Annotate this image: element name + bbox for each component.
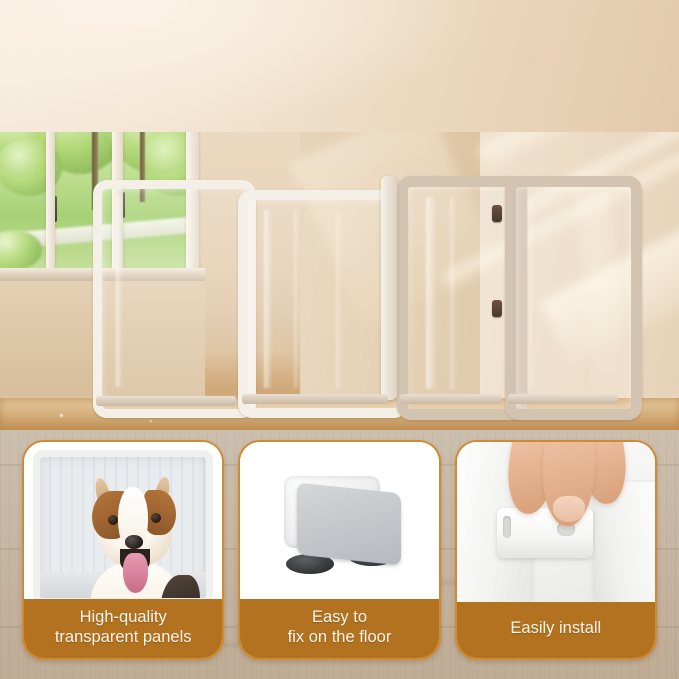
dog-eye-left xyxy=(108,515,118,525)
feature-card-easily-install[interactable]: Easily install xyxy=(455,440,657,660)
card-media-install xyxy=(457,442,655,602)
gate-panel-left xyxy=(93,180,256,418)
feature-card-transparent-panels[interactable]: High-quality transparent panels xyxy=(22,440,224,660)
card-caption-transparent-panels: High-quality transparent panels xyxy=(24,599,222,658)
gate-foot xyxy=(508,394,618,404)
gate-foot xyxy=(400,394,502,404)
card-media-bracket xyxy=(240,442,438,599)
caption-line: High-quality xyxy=(55,608,192,627)
dog-tongue xyxy=(123,553,148,593)
header-band xyxy=(0,0,679,132)
gate-hinge-upper xyxy=(492,205,502,222)
clip-slot xyxy=(503,516,511,538)
feature-card-fix-on-floor[interactable]: Easy to fix on the floor xyxy=(238,440,440,660)
gate-center-post xyxy=(381,176,397,400)
caption-line: Easy to xyxy=(288,608,392,627)
card-caption-fix-on-floor: Easy to fix on the floor xyxy=(240,599,438,658)
product-feature-poster: SIMPLE AND BEAUTIFUL Integrated into Hom… xyxy=(0,0,679,679)
caption-line: Easily install xyxy=(510,619,601,638)
gate-foot xyxy=(242,394,388,404)
gate-panel-right xyxy=(505,176,642,420)
dog-face-patch-right xyxy=(144,490,176,535)
feature-card-row: High-quality transparent panels Easy to … xyxy=(0,440,679,660)
transparent-panel-frame xyxy=(33,450,213,599)
gate-foot xyxy=(96,396,236,406)
thumb-nail xyxy=(553,496,585,522)
card-media-dog xyxy=(24,442,222,599)
gate-hinge-lower xyxy=(492,300,502,317)
dog-eye-right xyxy=(151,513,161,523)
dog-nose xyxy=(125,535,143,549)
caption-line: transparent panels xyxy=(55,628,192,647)
bracket-front-plate xyxy=(297,483,401,566)
caption-line: fix on the floor xyxy=(288,628,392,647)
card-caption-easily-install: Easily install xyxy=(457,602,655,658)
